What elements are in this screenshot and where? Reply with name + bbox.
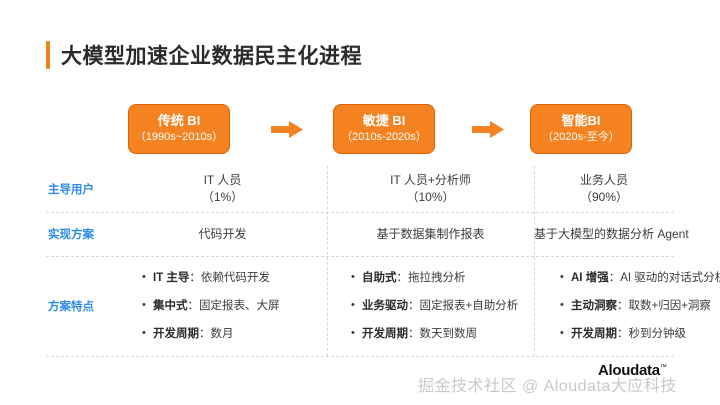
feature-key: 开发周期 bbox=[362, 328, 408, 340]
cell-primary-text: 业务人员 bbox=[580, 172, 628, 189]
row-divider bbox=[46, 212, 674, 213]
column-divider bbox=[534, 166, 535, 356]
feature-key: 开发周期 bbox=[571, 328, 617, 340]
feature-list-item: 自助式：拖拉拽分析 bbox=[351, 270, 534, 286]
stage-box-traditional-bi[interactable]: 传统 BI （1990s~2010s） bbox=[128, 104, 230, 154]
matrix-cell: 业务人员 （90%） bbox=[534, 166, 674, 212]
feature-key: 主动洞察 bbox=[571, 300, 617, 312]
feature-key: AI 增强 bbox=[571, 272, 609, 284]
stage-period: （2020s-至今） bbox=[542, 130, 620, 145]
arrow-right-icon bbox=[472, 121, 504, 138]
matrix-row-primary-users: 主导用户 IT 人员 （1%） IT 人员+分析师 （10%） 业务人员 （90… bbox=[46, 166, 674, 212]
stage-box-agile-bi[interactable]: 敏捷 BI （2010s-2020s） bbox=[333, 104, 435, 154]
cell-secondary-text: （1%） bbox=[202, 189, 243, 206]
feature-key: 业务驱动 bbox=[362, 300, 408, 312]
feature-value: ：拖拉拽分析 bbox=[397, 272, 466, 284]
matrix-cell: AI 增强：AI 驱动的对话式分析 主动洞察：取数+归因+洞察 开发周期：秒到分… bbox=[534, 256, 720, 356]
matrix-cell: 基于大模型的数据分析 Agent bbox=[534, 212, 689, 256]
matrix-cell: 自助式：拖拉拽分析 业务驱动：固定报表+自助分析 开发周期：数天到数周 bbox=[327, 256, 534, 356]
feature-list-item: IT 主导：依赖代码开发 bbox=[142, 270, 327, 286]
matrix-row-cells: 代码开发 基于数据集制作报表 基于大模型的数据分析 Agent bbox=[118, 212, 689, 256]
comparison-matrix: 主导用户 IT 人员 （1%） IT 人员+分析师 （10%） 业务人员 （90… bbox=[46, 166, 674, 356]
feature-list-item: 开发周期：数天到数周 bbox=[351, 326, 534, 342]
stage-name: 敏捷 BI bbox=[363, 113, 406, 129]
stage-name: 传统 BI bbox=[158, 113, 201, 129]
feature-value: ：依赖代码开发 bbox=[189, 272, 270, 284]
matrix-row-label: 主导用户 bbox=[46, 181, 118, 197]
feature-value: ：数天到数周 bbox=[408, 328, 477, 340]
row-divider bbox=[46, 356, 674, 357]
cell-primary-text: 基于数据集制作报表 bbox=[376, 226, 484, 243]
matrix-row-label: 实现方案 bbox=[46, 226, 118, 242]
matrix-row-label: 方案特点 bbox=[46, 298, 118, 314]
stage-timeline: 传统 BI （1990s~2010s） 敏捷 BI （2010s-2020s） … bbox=[46, 104, 674, 158]
matrix-row-features: 方案特点 IT 主导：依赖代码开发 集中式：固定报表、大屏 开发周期：数月 自助… bbox=[46, 256, 674, 356]
stage-box-intelligent-bi[interactable]: 智能BI （2020s-至今） bbox=[530, 104, 632, 154]
matrix-row-cells: IT 人员 （1%） IT 人员+分析师 （10%） 业务人员 （90%） bbox=[118, 166, 674, 212]
stage-period: （2010s-2020s） bbox=[341, 130, 427, 145]
feature-value: ：秒到分钟级 bbox=[617, 328, 686, 340]
watermark-text: 掘金技术社区 @ Aloudata大应科技 bbox=[418, 372, 677, 396]
feature-value: ：数月 bbox=[199, 328, 234, 340]
feature-list-item: 开发周期：秒到分钟级 bbox=[560, 326, 720, 342]
cell-primary-text: 代码开发 bbox=[198, 226, 246, 243]
matrix-row-implementation: 实现方案 代码开发 基于数据集制作报表 基于大模型的数据分析 Agent bbox=[46, 212, 674, 256]
matrix-row-cells: IT 主导：依赖代码开发 集中式：固定报表、大屏 开发周期：数月 自助式：拖拉拽… bbox=[118, 256, 720, 356]
cell-primary-text: IT 人员 bbox=[204, 172, 242, 189]
feature-key: 自助式 bbox=[362, 272, 397, 284]
page-title: 大模型加速企业数据民主化进程 bbox=[46, 40, 362, 70]
feature-value: ：固定报表+自助分析 bbox=[408, 300, 518, 312]
feature-key: 开发周期 bbox=[153, 328, 199, 340]
stage-name: 智能BI bbox=[561, 113, 600, 129]
feature-list-item: 主动洞察：取数+归因+洞察 bbox=[560, 298, 720, 314]
cell-secondary-text: （90%） bbox=[580, 189, 628, 206]
matrix-cell: 基于数据集制作报表 bbox=[327, 212, 534, 256]
stage-period: （1990s~2010s） bbox=[135, 130, 223, 145]
feature-list-item: 集中式：固定报表、大屏 bbox=[142, 298, 327, 314]
title-accent-bar bbox=[46, 41, 50, 69]
page-title-text: 大模型加速企业数据民主化进程 bbox=[61, 40, 362, 70]
cell-primary-text: IT 人员+分析师 bbox=[390, 172, 471, 189]
feature-value: ：固定报表、大屏 bbox=[188, 300, 280, 312]
feature-list-item: AI 增强：AI 驱动的对话式分析 bbox=[560, 270, 720, 286]
feature-key: IT 主导 bbox=[153, 272, 189, 284]
matrix-cell: IT 人员 （1%） bbox=[118, 166, 327, 212]
row-divider bbox=[46, 256, 674, 257]
column-divider bbox=[327, 166, 328, 356]
cell-secondary-text: （10%） bbox=[406, 189, 454, 206]
arrow-right-icon bbox=[271, 121, 303, 138]
matrix-cell: IT 主导：依赖代码开发 集中式：固定报表、大屏 开发周期：数月 bbox=[118, 256, 327, 356]
matrix-cell: IT 人员+分析师 （10%） bbox=[327, 166, 534, 212]
feature-list-item: 业务驱动：固定报表+自助分析 bbox=[351, 298, 534, 314]
feature-value: ：取数+归因+洞察 bbox=[617, 300, 711, 312]
feature-list-item: 开发周期：数月 bbox=[142, 326, 327, 342]
trademark-symbol: ™ bbox=[660, 364, 667, 371]
feature-key: 集中式 bbox=[153, 300, 188, 312]
matrix-cell: 代码开发 bbox=[118, 212, 327, 256]
cell-primary-text: 基于大模型的数据分析 Agent bbox=[534, 226, 689, 243]
feature-value: ：AI 驱动的对话式分析 bbox=[609, 272, 720, 284]
